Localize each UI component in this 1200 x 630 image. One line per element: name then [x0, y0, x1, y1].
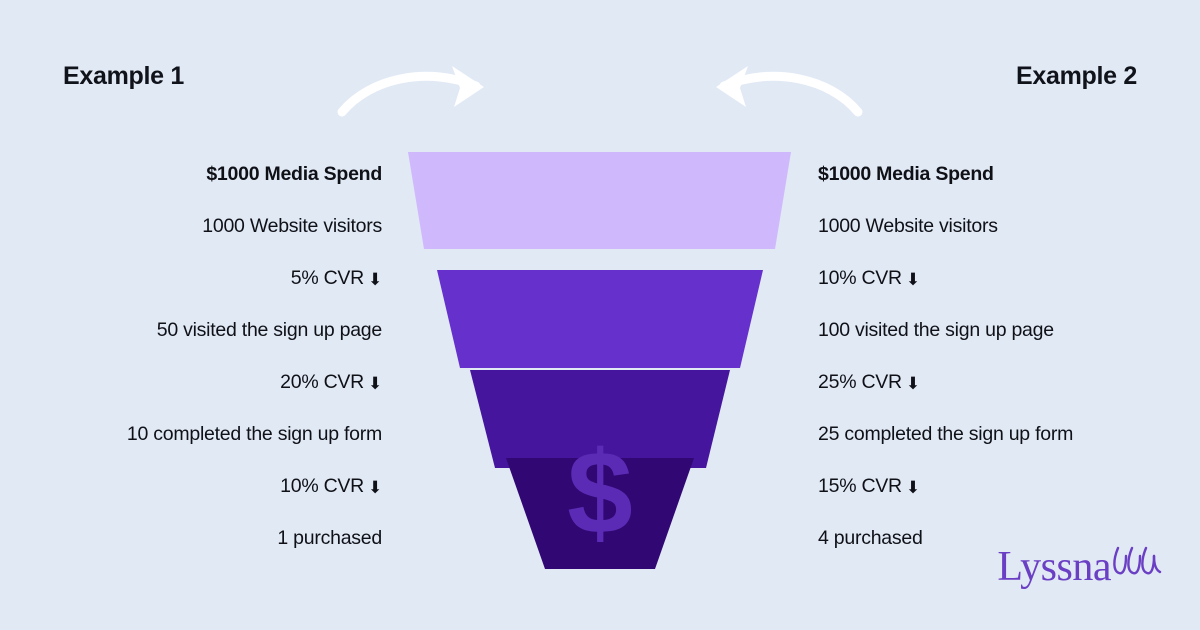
label-text: 25 completed the sign up form — [818, 423, 1073, 445]
label-text: 5% CVR — [291, 267, 364, 289]
example-2-labels: $1000 Media Spend 1000 Website visitors … — [818, 148, 1158, 564]
label-cvr-visitors-to-signup-page: 5% CVR⬇ — [42, 252, 382, 304]
label-text: 1 purchased — [277, 527, 382, 549]
label-text: $1000 Media Spend — [206, 163, 382, 185]
label-completed-signup-form: 10 completed the sign up form — [42, 408, 382, 460]
lyssna-squiggle-icon — [1112, 544, 1164, 583]
funnel-chart: $ — [400, 148, 800, 573]
label-website-visitors: 1000 Website visitors — [818, 200, 1158, 252]
label-text: 50 visited the sign up page — [157, 319, 382, 341]
label-visited-signup-page: 50 visited the sign up page — [42, 304, 382, 356]
example-1-labels: $1000 Media Spend 1000 Website visitors … — [42, 148, 382, 564]
label-visited-signup-page: 100 visited the sign up page — [818, 304, 1158, 356]
label-text: 15% CVR — [818, 475, 902, 497]
example-2-heading: Example 2 — [1016, 62, 1137, 91]
label-cvr-form-to-purchase: 15% CVR⬇ — [818, 460, 1158, 512]
label-cvr-page-to-form: 25% CVR⬇ — [818, 356, 1158, 408]
down-arrow-icon: ⬇ — [368, 375, 382, 392]
label-cvr-visitors-to-signup-page: 10% CVR⬇ — [818, 252, 1158, 304]
label-text: 100 visited the sign up page — [818, 319, 1054, 341]
label-text: 10 completed the sign up form — [127, 423, 382, 445]
label-cvr-form-to-purchase: 10% CVR⬇ — [42, 460, 382, 512]
label-media-spend: $1000 Media Spend — [42, 148, 382, 200]
label-text: 1000 Website visitors — [202, 215, 382, 237]
lyssna-logo: Lyssna — [997, 544, 1164, 588]
infographic-canvas: Example 1 Example 2 $1000 Media Spend 10… — [0, 0, 1200, 630]
label-purchased: 1 purchased — [42, 512, 382, 564]
curved-arrow-right-icon — [336, 60, 506, 120]
funnel-segment-awareness — [408, 152, 791, 249]
funnel-segment-signup-page — [437, 270, 763, 368]
example-1-heading: Example 1 — [63, 62, 184, 91]
label-text: 25% CVR — [818, 371, 902, 393]
label-text: 1000 Website visitors — [818, 215, 998, 237]
down-arrow-icon: ⬇ — [368, 479, 382, 496]
label-text: 10% CVR — [280, 475, 364, 497]
label-media-spend: $1000 Media Spend — [818, 148, 1158, 200]
down-arrow-icon: ⬇ — [906, 479, 920, 496]
lyssna-wordmark: Lyssna — [997, 548, 1111, 588]
label-website-visitors: 1000 Website visitors — [42, 200, 382, 252]
down-arrow-icon: ⬇ — [368, 271, 382, 288]
label-text: 10% CVR — [818, 267, 902, 289]
dollar-sign-icon: $ — [567, 427, 633, 559]
label-cvr-page-to-form: 20% CVR⬇ — [42, 356, 382, 408]
label-text: 4 purchased — [818, 527, 923, 549]
curved-arrow-left-icon — [694, 60, 864, 120]
down-arrow-icon: ⬇ — [906, 375, 920, 392]
down-arrow-icon: ⬇ — [906, 271, 920, 288]
label-completed-signup-form: 25 completed the sign up form — [818, 408, 1158, 460]
label-text: 20% CVR — [280, 371, 364, 393]
label-text: $1000 Media Spend — [818, 163, 994, 185]
